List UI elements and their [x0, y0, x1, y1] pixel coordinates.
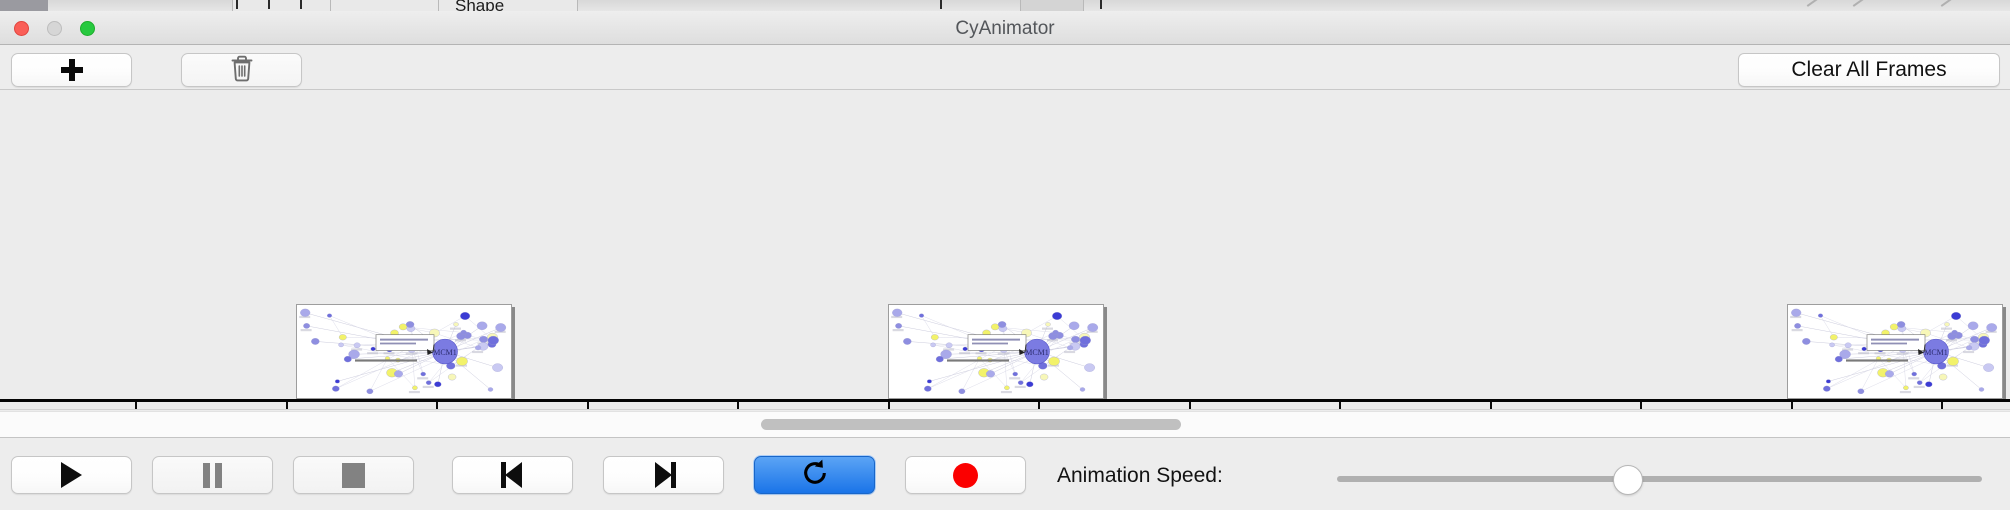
- clear-all-frames-button[interactable]: Clear All Frames: [1738, 53, 2000, 87]
- keyframe-thumbnail[interactable]: MCM1: [296, 304, 512, 399]
- play-icon: [61, 462, 82, 488]
- loop-button[interactable]: [754, 456, 875, 494]
- toolbar: Clear All Frames: [0, 45, 2010, 90]
- keyframe-thumbnail[interactable]: MCM1: [888, 304, 1104, 399]
- svg-text:MCM1: MCM1: [1025, 348, 1049, 357]
- play-button[interactable]: [11, 456, 132, 494]
- ruler-tick-minor: [737, 402, 739, 410]
- ruler-tick-minor: [436, 402, 438, 410]
- animation-speed-slider[interactable]: [1337, 468, 1982, 490]
- ruler-tick-minor: [1941, 402, 1943, 410]
- svg-text:MCM1: MCM1: [433, 348, 457, 357]
- background-window-strip: Shape: [0, 0, 2010, 11]
- timeline-panel[interactable]: MCM1 MCM1 MCM1 12131415161718: [0, 90, 2010, 410]
- ruler-tick-minor: [1038, 402, 1040, 410]
- keyframe-thumbnail[interactable]: MCM1: [1787, 304, 2003, 399]
- trash-icon: [229, 54, 255, 87]
- stop-icon: [342, 463, 365, 488]
- ruler-tick-major: [888, 402, 890, 410]
- pause-button[interactable]: [152, 456, 273, 494]
- window-title: CyAnimator: [0, 18, 2010, 40]
- ruler-tick-minor: [135, 402, 137, 410]
- timeline-ruler[interactable]: 12131415161718: [0, 399, 2010, 410]
- svg-text:MCM1: MCM1: [1924, 348, 1948, 357]
- loop-icon: [800, 458, 830, 493]
- ruler-tick-major: [587, 402, 589, 410]
- title-bar: CyAnimator: [0, 11, 2010, 45]
- slider-track: [1337, 476, 1982, 482]
- scrollbar-thumb[interactable]: [761, 419, 1181, 430]
- ruler-axis-line: [0, 399, 2010, 402]
- transport-bar: Animation Speed:: [0, 437, 2010, 510]
- add-frame-button[interactable]: [11, 53, 132, 87]
- ruler-tick-major: [1189, 402, 1191, 410]
- plus-icon: [61, 59, 83, 81]
- ruler-tick-major: [1791, 402, 1793, 410]
- timeline-scrollbar[interactable]: [0, 411, 2010, 437]
- skip-forward-icon: [652, 462, 676, 488]
- ruler-tick-minor: [1640, 402, 1642, 410]
- record-button[interactable]: [905, 456, 1026, 494]
- last-frame-button[interactable]: [603, 456, 724, 494]
- pause-icon: [203, 463, 222, 488]
- background-window-label: Shape: [455, 0, 504, 11]
- cyanimator-window: Shape CyAnimator Clear All Frames: [0, 0, 2010, 510]
- ruler-tick-major: [286, 402, 288, 410]
- first-frame-button[interactable]: [452, 456, 573, 494]
- animation-speed-label: Animation Speed:: [1057, 464, 1223, 488]
- ruler-tick-major: [1490, 402, 1492, 410]
- slider-thumb[interactable]: [1613, 465, 1643, 495]
- ruler-tick-minor: [1339, 402, 1341, 410]
- clear-all-frames-label: Clear All Frames: [1791, 58, 1946, 82]
- record-icon: [953, 463, 978, 488]
- skip-backward-icon: [501, 462, 525, 488]
- stop-button[interactable]: [293, 456, 414, 494]
- delete-frame-button[interactable]: [181, 53, 302, 87]
